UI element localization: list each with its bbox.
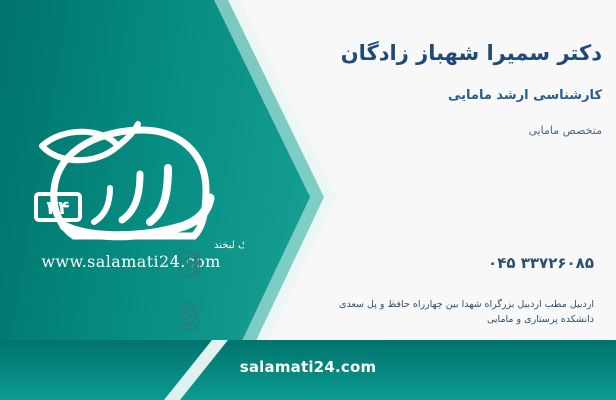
phone-text: ۳۳۷۲۶۰۸۵ ۰۴۵	[206, 245, 602, 281]
location-pin-icon	[172, 297, 206, 335]
apple-logo-mark: ۲۴ به راحتی یک لبخند	[18, 112, 244, 252]
address-text: اردبیل مطب اردبیل بزرگراه شهدا بین چهارر…	[206, 297, 602, 327]
contact-row-address: اردبیل مطب اردبیل بزرگراه شهدا بین چهارر…	[172, 297, 602, 335]
badge-24-label: ۲۴	[46, 197, 69, 219]
phone-number: ۳۳۷۲۶۰۸۵ ۰۴۵	[488, 254, 594, 272]
address-line-1: اردبیل مطب اردبیل بزرگراه شهدا بین چهارر…	[210, 297, 594, 312]
phone-book-icon	[172, 245, 206, 283]
business-card: ۲۴ به راحتی یک لبخند www.salamati24.com …	[0, 0, 616, 400]
footer-bar: salamati24.com	[0, 340, 616, 400]
header-text-block: دکتر سمیرا شهباز زادگان کارشناسی ارشد ما…	[242, 38, 602, 140]
doctor-specialty: متخصص مامایی	[242, 122, 602, 140]
address-line-2: دانشکده پرستاری و مامایی	[210, 312, 594, 327]
footer-website: salamati24.com	[0, 358, 616, 376]
doctor-degree: کارشناسی ارشد مامایی	[242, 86, 602, 106]
contact-block: ۳۳۷۲۶۰۸۵ ۰۴۵ اردبیل مطب اردبیل بزرگراه ش…	[172, 245, 602, 349]
contact-row-phone: ۳۳۷۲۶۰۸۵ ۰۴۵	[172, 245, 602, 283]
doctor-name: دکتر سمیرا شهباز زادگان	[242, 38, 602, 68]
